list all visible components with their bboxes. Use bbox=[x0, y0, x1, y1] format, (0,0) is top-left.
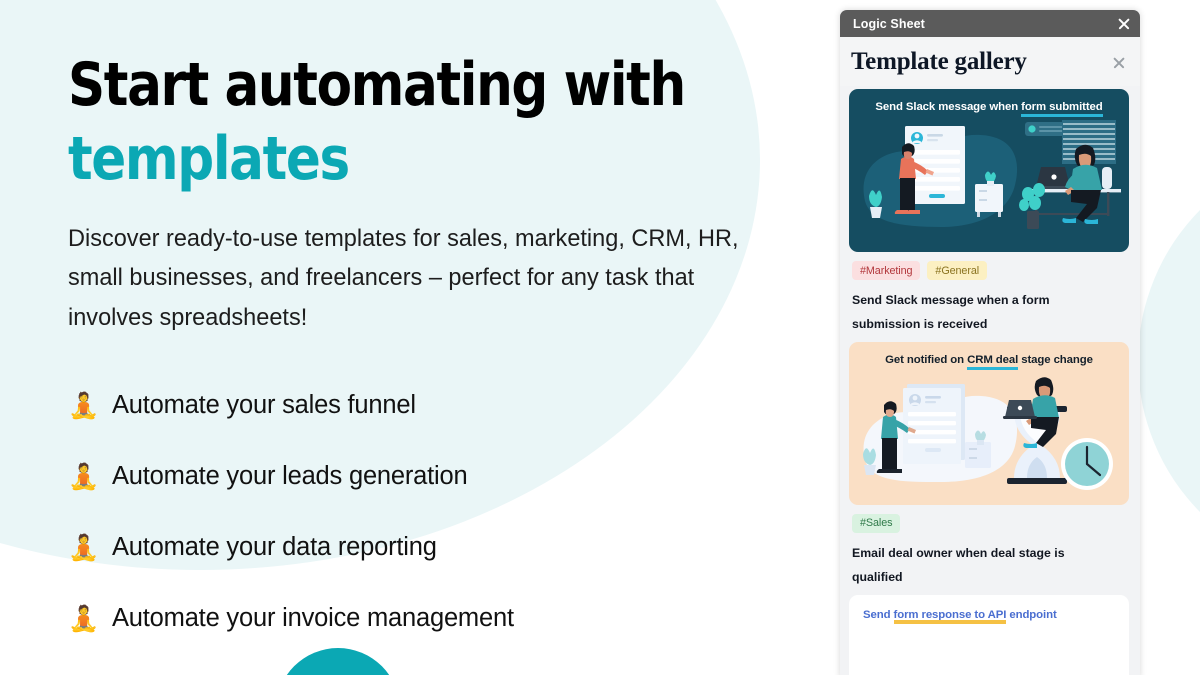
close-icon[interactable] bbox=[1111, 54, 1127, 70]
hero-section: Start automating with templates Discover… bbox=[0, 0, 840, 675]
status-badge[interactable]: #Sales bbox=[852, 514, 900, 533]
template-thumbnail-title: Get notified on CRM deal stage change bbox=[849, 354, 1129, 366]
template-thumbnail-title: Send form response to API endpoint bbox=[849, 609, 1129, 621]
title-suffix: endpoint bbox=[1006, 609, 1056, 621]
title-underlined: CRM deal bbox=[967, 354, 1018, 366]
headline-line-2: templates bbox=[68, 122, 732, 196]
background-blob-right bbox=[1138, 146, 1200, 576]
template-tags: #Sales bbox=[849, 514, 1129, 533]
template-card[interactable]: Send Slack message when form submitted #… bbox=[849, 89, 1129, 337]
status-badge[interactable]: #General bbox=[927, 261, 987, 280]
template-thumbnail[interactable]: Send Slack message when form submitted bbox=[849, 89, 1129, 252]
page-title: Start automating with templates bbox=[68, 48, 732, 197]
template-tags: #Marketing #General bbox=[849, 261, 1129, 280]
panel-titlebar: Logic Sheet bbox=[840, 10, 1140, 37]
screenshot-root: Start automating with templates Discover… bbox=[0, 0, 1200, 675]
title-prefix: Send Slack message when bbox=[875, 101, 1021, 113]
template-caption: Email deal owner when deal stage is qual… bbox=[849, 542, 1089, 590]
person-lotus-emoji: 🧘 bbox=[68, 535, 98, 560]
panel-header: Template gallery bbox=[840, 37, 1140, 86]
title-underlined: form submitted bbox=[1021, 101, 1103, 113]
template-thumbnail-title: Send Slack message when form submitted bbox=[849, 101, 1129, 113]
person-lotus-emoji: 🧘 bbox=[68, 393, 98, 418]
template-thumbnail[interactable]: Send form response to API endpoint bbox=[849, 595, 1129, 675]
person-lotus-emoji: 🧘 bbox=[68, 606, 98, 631]
title-underlined: form response to API bbox=[894, 609, 1007, 621]
list-item: 🧘 Automate your leads generation bbox=[68, 441, 840, 512]
title-prefix: Get notified on bbox=[885, 354, 967, 366]
template-card[interactable]: Send form response to API endpoint bbox=[849, 595, 1129, 675]
template-caption: Send Slack message when a form submissio… bbox=[849, 289, 1089, 337]
list-item: 🧘 Automate your sales funnel bbox=[68, 370, 840, 441]
status-badge[interactable]: #Marketing bbox=[852, 261, 920, 280]
close-icon[interactable] bbox=[1116, 16, 1132, 32]
list-item-label: Automate your sales funnel bbox=[112, 391, 416, 420]
title-suffix: stage change bbox=[1018, 354, 1093, 366]
person-lotus-emoji: 🧘 bbox=[68, 464, 98, 489]
list-item: 🧘 Automate your invoice management bbox=[68, 583, 840, 654]
list-item: 🧘 Automate your data reporting bbox=[68, 512, 840, 583]
logic-sheet-panel: Logic Sheet Template gallery bbox=[840, 10, 1140, 675]
panel-header-title: Template gallery bbox=[851, 48, 1027, 76]
template-card[interactable]: Get notified on CRM deal stage change #S… bbox=[849, 342, 1129, 590]
panel-titlebar-label: Logic Sheet bbox=[853, 17, 925, 31]
template-list[interactable]: Send Slack message when form submitted #… bbox=[840, 86, 1140, 675]
headline-line-1: Start automating with bbox=[68, 50, 685, 120]
hero-subtitle: Discover ready-to-use templates for sale… bbox=[68, 219, 769, 338]
title-prefix: Send bbox=[863, 609, 894, 621]
list-item-label: Automate your leads generation bbox=[112, 462, 467, 491]
feature-list: 🧘 Automate your sales funnel 🧘 Automate … bbox=[68, 370, 840, 654]
template-thumbnail[interactable]: Get notified on CRM deal stage change bbox=[849, 342, 1129, 505]
list-item-label: Automate your data reporting bbox=[112, 533, 437, 562]
list-item-label: Automate your invoice management bbox=[112, 604, 514, 633]
